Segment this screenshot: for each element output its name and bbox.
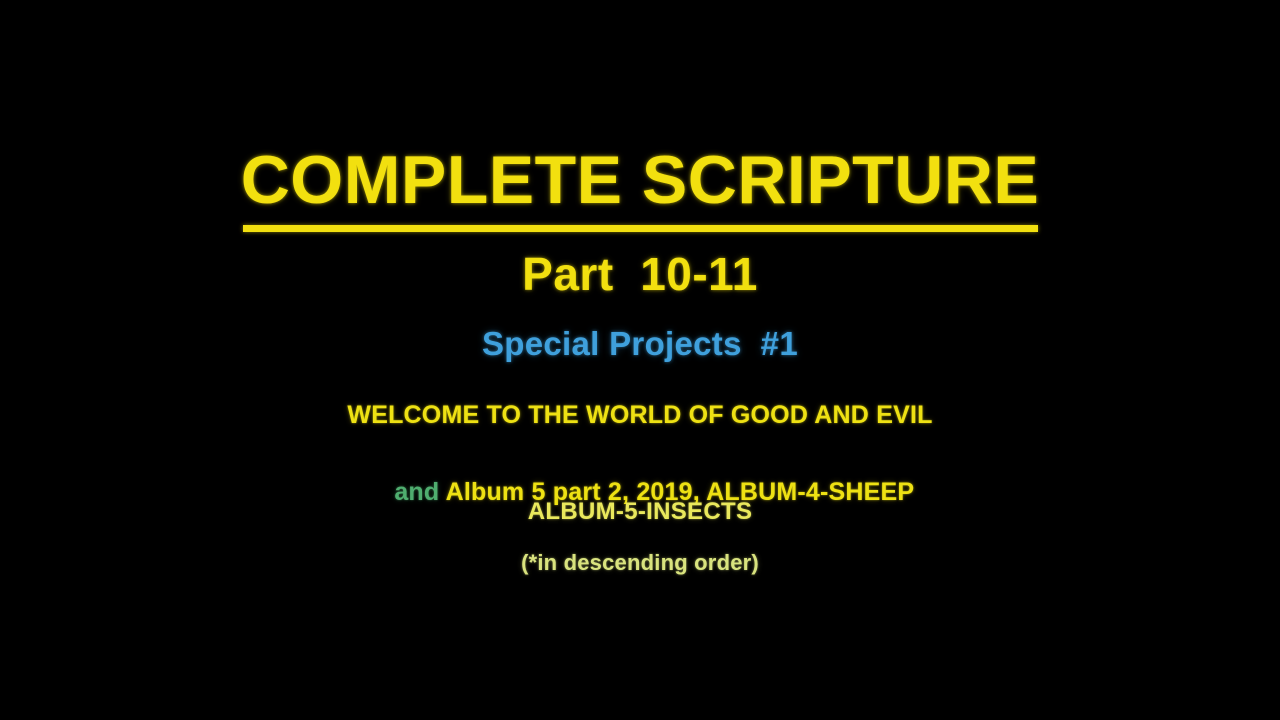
album-5-text: ALBUM-5-INSECTS — [0, 495, 1280, 528]
title-underline-rule — [243, 225, 1038, 232]
special-projects-subtitle: Special Projects #1 — [0, 322, 1280, 366]
title-block: COMPLETE SCRIPTURE — [0, 143, 1280, 232]
page-title: COMPLETE SCRIPTURE — [241, 143, 1040, 217]
title-slide: COMPLETE SCRIPTURE Part 10-11 Special Pr… — [0, 0, 1280, 720]
welcome-text: WELCOME TO THE WORLD OF GOOD AND EVIL — [0, 398, 1280, 432]
descending-order-note: (*in descending order) — [0, 548, 1280, 578]
part-subtitle: Part 10-11 — [0, 245, 1280, 303]
